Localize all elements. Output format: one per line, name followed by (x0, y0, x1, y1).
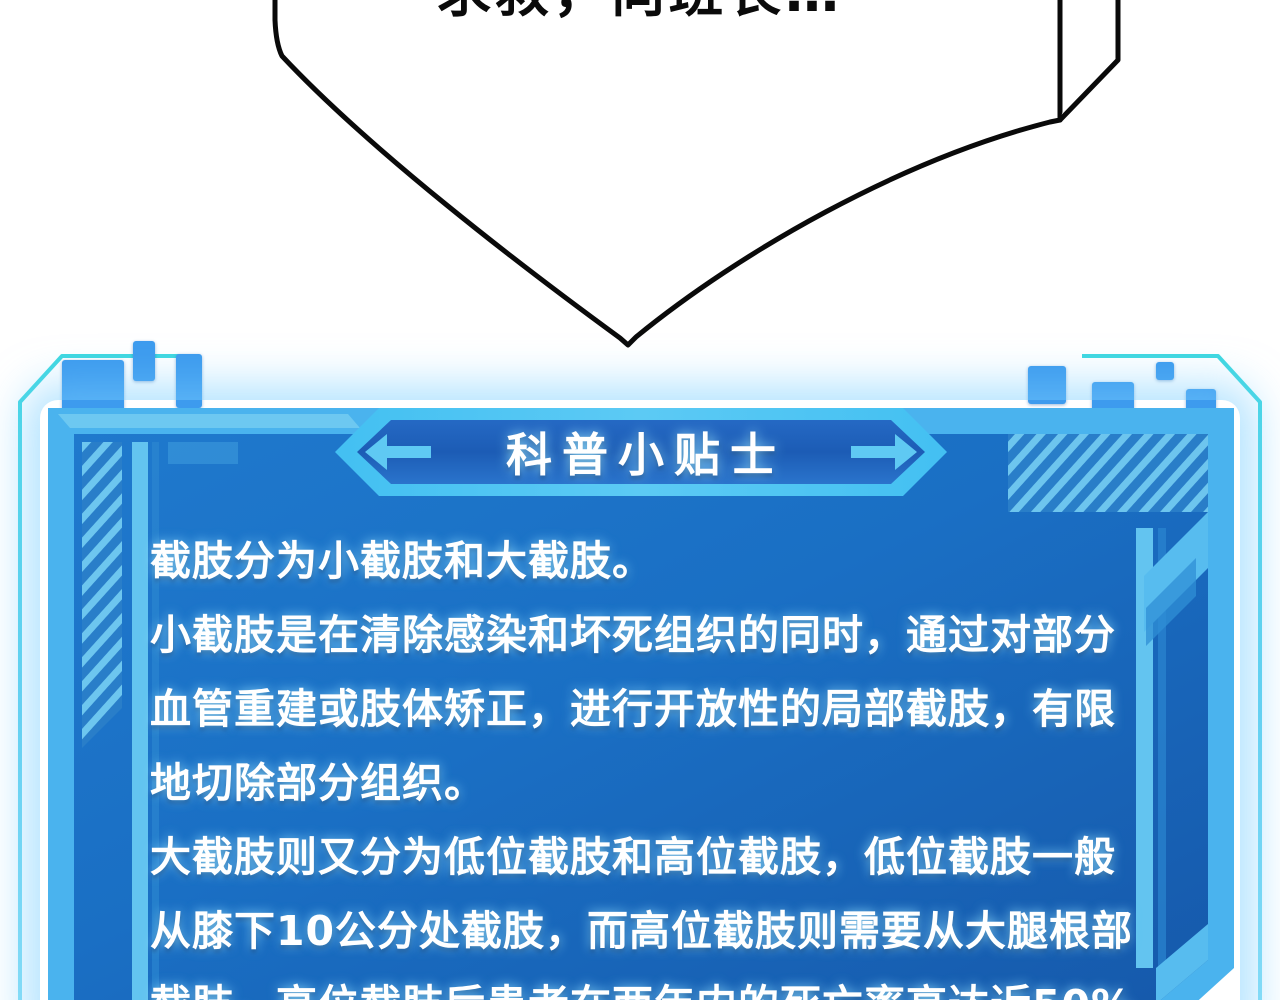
speech-bubble-outline (0, 0, 1280, 380)
deco-square-left-3 (176, 354, 202, 408)
tip-line-2: 小截肢是在清除感染和坏死组织的同时，通过对部分 (150, 598, 1160, 672)
deco-square-right-1 (1028, 366, 1066, 404)
section-title-badge: 科普小贴士 (335, 404, 947, 500)
tip-line-1: 截肢分为小截肢和大截肢。 (150, 524, 1160, 598)
deco-square-left-2 (133, 341, 155, 381)
deco-square-right-3 (1156, 362, 1174, 380)
tip-body-text: 截肢分为小截肢和大截肢。 小截肢是在清除感染和坏死组织的同时，通过对部分 血管重… (150, 524, 1160, 1000)
comic-panel-page: 求救，向班长… (0, 0, 1280, 1000)
page-title: 科普小贴士 (335, 404, 947, 500)
tip-line-7: 截肢。高位截肢后患者在两年内的死亡率高达近50% (150, 968, 1160, 1000)
tip-line-6: 从膝下10公分处截肢，而高位截肢则需要从大腿根部 (150, 894, 1160, 968)
tip-line-4: 地切除部分组织。 (150, 746, 1160, 820)
tip-line-3: 血管重建或肢体矫正，进行开放性的局部截肢，有限 (150, 672, 1160, 746)
bubble-text: 求救，向班长… (0, 0, 1280, 20)
tip-line-5: 大截肢则又分为低位截肢和高位截肢，低位截肢一般 (150, 820, 1160, 894)
